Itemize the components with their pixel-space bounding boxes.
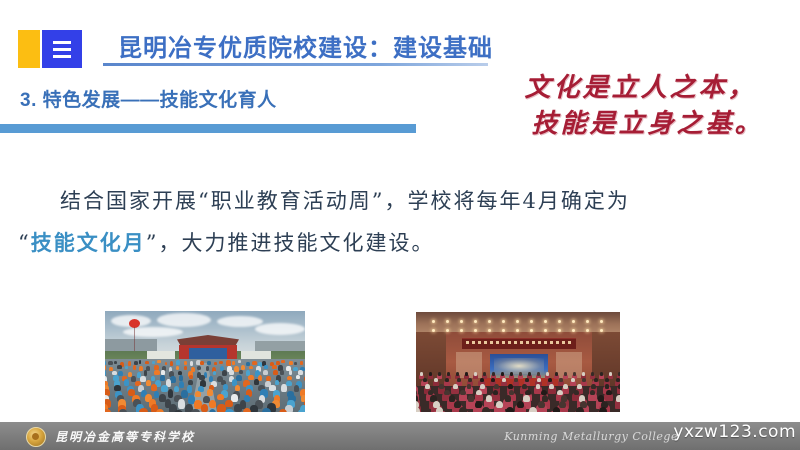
photo-crowd-person — [236, 375, 242, 381]
photo-crowd-person — [176, 366, 179, 371]
photo-cloud — [255, 323, 305, 335]
photo-ceiling-light — [432, 320, 435, 323]
photo-audience-head — [600, 372, 603, 375]
photo-audience-head — [594, 378, 598, 382]
photo-audience-head — [605, 384, 610, 389]
photo-ceiling-light — [502, 329, 505, 332]
photo-audience-head — [494, 384, 499, 389]
slide-canvas: 昆明冶专优质院校建设：建设基础 3. 特色发展——技能文化育人 文化是立人之本，… — [0, 0, 800, 450]
photo-audience-head — [505, 395, 511, 402]
photo-ceiling-light — [460, 329, 463, 332]
photo-crowd-person — [114, 361, 117, 365]
photo-crowd-person — [140, 376, 146, 382]
photo-crowd-person — [281, 384, 287, 392]
photo-crowd-person — [178, 399, 185, 409]
photo-audience-head — [537, 372, 540, 375]
photo-crowd-person — [119, 409, 127, 412]
photo-audience-head — [525, 378, 529, 382]
photo-audience-head — [573, 372, 576, 375]
photo-audience-head — [571, 378, 575, 382]
photo-audience-head — [537, 378, 541, 382]
photo-crowd-person — [286, 381, 292, 386]
photo-crowd-person — [214, 362, 217, 365]
photo-crowd-person — [225, 400, 233, 408]
photo-crowd-person — [161, 370, 165, 375]
photo-crowd-person — [117, 365, 122, 369]
photo-crowd-person — [105, 409, 111, 412]
photo-crowd-person — [195, 391, 201, 397]
hamburger-line — [53, 48, 71, 51]
photo-audience-head — [475, 401, 482, 408]
photo-crowd-person — [134, 361, 138, 365]
photo-banner-text — [466, 341, 572, 344]
photo-crowd-person — [235, 385, 241, 391]
photo-crowd-person — [294, 362, 297, 365]
photo-crowd-person — [217, 394, 224, 401]
photo-crowd-person — [197, 366, 201, 370]
photo-audience-head — [574, 390, 580, 396]
photo-audience-head — [590, 390, 596, 396]
photo-crowd-person — [280, 370, 284, 375]
body-paragraph: 结合国家开展“职业教育活动周”，学校将每年4月确定为 “技能文化月”，大力推进技… — [18, 180, 784, 264]
photo-crowd-person — [252, 361, 257, 365]
photo-crowd-person — [170, 361, 174, 366]
photo-ceiling-light — [530, 320, 533, 323]
photo-audience-head — [582, 378, 586, 382]
photo-crowd-person — [105, 370, 106, 375]
photo-crowd-person — [133, 365, 137, 370]
photo-ceiling-light — [586, 320, 589, 323]
photo-crowd-person — [209, 400, 217, 408]
header-underline — [103, 63, 488, 66]
auditorium-assembly-photo — [416, 312, 620, 412]
photo-crowd-person — [263, 370, 268, 375]
photo-audience-head — [483, 372, 486, 375]
body-quote-open: “ — [18, 231, 31, 255]
photo-crowd-person — [174, 386, 180, 393]
photo-ceiling-light — [488, 329, 491, 332]
header-accent-bar — [18, 30, 40, 68]
photo-audience-head — [591, 384, 596, 389]
photo-audience-head — [609, 372, 612, 375]
slogan-line-2: 技能是立身之基。 — [488, 106, 793, 142]
photo-audience-head — [538, 401, 545, 408]
photo-crowd-person — [289, 361, 293, 365]
photo-audience-head — [434, 378, 438, 382]
photo-crowd-person — [219, 361, 223, 365]
site-watermark: yxzw123.com — [673, 422, 796, 442]
photo-audience-head — [522, 384, 527, 389]
photo-audience-head — [591, 372, 594, 375]
photo-audience-head — [453, 384, 458, 389]
photo-audience-head — [514, 378, 518, 382]
photo-audience-head — [501, 372, 504, 375]
photo-audience-head — [425, 384, 430, 389]
photo-audience-head — [496, 401, 503, 408]
photo-crowd-person — [287, 376, 293, 381]
photo-crowd-person — [184, 361, 187, 365]
photo-audience-head — [423, 378, 427, 382]
photo-audience-head — [606, 390, 612, 396]
photo-crowd-person — [181, 390, 188, 398]
photo-audience-head — [476, 390, 482, 396]
photo-crowd-person — [262, 408, 271, 412]
photo-audience-head — [460, 390, 466, 396]
photo-audience-head — [564, 372, 567, 375]
photo-crowd-person — [234, 404, 242, 412]
photo-audience-head — [536, 384, 541, 389]
photo-audience-head — [447, 372, 450, 375]
photo-crowd-person — [281, 360, 285, 363]
photo-crowd-person — [152, 361, 155, 364]
photo-crowd-person — [179, 375, 184, 381]
photo-crowd-person — [300, 361, 303, 365]
photo-audience-head — [445, 378, 449, 382]
photo-ceiling-light — [474, 329, 477, 332]
photo-crowd-person — [250, 405, 258, 412]
photo-audience-head — [508, 384, 513, 389]
photo-audience-head — [577, 384, 582, 389]
photo-audience-head — [616, 378, 620, 382]
photo-ceiling-light — [600, 320, 603, 323]
photo-audience-head — [468, 378, 472, 382]
photo-ceiling-light — [432, 329, 435, 332]
photo-audience-head — [459, 407, 467, 412]
photo-ceiling-light — [600, 329, 603, 332]
school-emblem-icon — [26, 427, 46, 447]
photo-audience-head — [599, 407, 607, 412]
photo-crowd-person — [272, 365, 277, 369]
photo-crowd-person — [298, 409, 305, 412]
photo-audience-head — [546, 372, 549, 375]
photo-crowd-person — [304, 376, 305, 381]
photo-audience-head — [616, 395, 620, 402]
photo-wall-panel-right — [556, 352, 582, 378]
photo-crowd-person — [184, 366, 187, 370]
photo-audience-head — [457, 378, 461, 382]
photo-crowd-person — [144, 370, 148, 376]
photo-ceiling-light — [572, 320, 575, 323]
photo-crowd-person — [139, 408, 149, 412]
photo-crowd-person — [161, 385, 168, 392]
photo-crowd-person — [279, 409, 287, 412]
body-line-1: 结合国家开展“职业教育活动周”，学校将每年4月确定为 — [18, 180, 784, 222]
photo-crowd-person — [296, 375, 300, 380]
photo-audience-head — [480, 384, 485, 389]
photo-cloud — [157, 313, 211, 327]
photo-crowd-person — [264, 365, 269, 369]
photo-audience-head — [618, 384, 620, 389]
photo-crowd-person — [108, 361, 113, 365]
photo-audience-head — [493, 390, 499, 396]
photo-audience-head — [529, 407, 537, 412]
photo-audience-head — [548, 378, 552, 382]
hamburger-line — [53, 55, 71, 58]
photo-crowd-person — [154, 370, 160, 375]
photo-crowd-person — [139, 366, 143, 372]
photo-audience-head — [502, 378, 506, 382]
photo-crowd-person — [168, 389, 174, 398]
photo-ceiling-light — [558, 320, 561, 323]
photo-audience-head — [492, 372, 495, 375]
photo-ceiling-light — [544, 329, 547, 332]
photo-crowd-person — [179, 381, 185, 389]
photo-audience-head — [618, 372, 620, 375]
photo-audience-head — [467, 384, 472, 389]
photo-ceiling-light — [516, 320, 519, 323]
body-line-2: “技能文化月”，大力推进技能文化建设。 — [18, 222, 784, 264]
photo-crowd-person — [254, 379, 260, 385]
photo-audience-head — [439, 384, 444, 389]
photo-audience-head — [510, 372, 513, 375]
photo-audience-head — [465, 372, 468, 375]
photo-crowd-person — [248, 375, 254, 381]
photo-crowd-person — [225, 409, 234, 412]
photo-ceiling-light — [488, 320, 491, 323]
footer-school-name-cn: 昆明冶金高等专科学校 — [55, 428, 195, 445]
photo-crowd-person — [174, 410, 183, 412]
photo-ceiling-light — [586, 329, 589, 332]
photo-crowd-person — [246, 362, 250, 366]
photo-crowd-person — [207, 361, 211, 365]
photo-crowd-person — [226, 360, 230, 365]
photo-ceiling-light — [502, 320, 505, 323]
photo-crowd-person — [157, 360, 161, 363]
photo-cloud — [217, 316, 263, 327]
photo-audience-head — [429, 372, 432, 375]
photo-audience-head — [474, 372, 477, 375]
photo-crowd-person — [201, 404, 209, 412]
hamburger-line — [53, 41, 71, 44]
photo-crowd-person — [190, 361, 194, 366]
outdoor-ceremony-photo — [105, 311, 305, 412]
photo-audience-head — [436, 407, 444, 412]
photo-crowd-person — [176, 360, 180, 364]
photo-audience-head — [559, 401, 566, 408]
photo-audience-head — [559, 378, 563, 382]
photo-ceiling-light — [446, 320, 449, 323]
photo-audience-head — [480, 378, 484, 382]
section-subtitle: 3. 特色发展——技能文化育人 — [20, 85, 277, 112]
photo-crowd-person — [160, 375, 165, 380]
photo-audience-head — [438, 372, 441, 375]
photo-audience-head — [456, 372, 459, 375]
photo-balloon-tether — [134, 327, 135, 353]
photo-audience-head — [553, 407, 561, 412]
photo-crowd-person — [222, 370, 227, 376]
photo-audience-head — [563, 384, 568, 389]
slogan-line-1: 文化是立人之本， — [488, 70, 793, 106]
photo-crowd-person — [276, 361, 279, 365]
photo-stage-screen — [189, 348, 227, 359]
photo-ceiling-light — [460, 320, 463, 323]
photo-ceiling-light — [516, 329, 519, 332]
photo-crowd-person — [229, 370, 234, 375]
photo-audience-head — [528, 372, 531, 375]
photo-crowd-person — [200, 361, 204, 365]
photo-audience-head — [523, 395, 529, 402]
photo-audience-head — [482, 407, 490, 412]
page-title: 昆明冶专优质院校建设：建设基础 — [118, 28, 493, 63]
photo-crowd-person — [191, 409, 200, 412]
body-highlight-term: 技能文化月 — [31, 230, 146, 255]
photo-crowd-person — [206, 366, 210, 371]
photo-crowd-person — [232, 361, 235, 365]
photo-ceiling-light — [558, 329, 561, 332]
photo-crowd-person — [298, 370, 303, 375]
photo-crowd-person — [209, 409, 217, 412]
photo-wall-panel-left — [456, 352, 482, 378]
hamburger-icon[interactable] — [42, 30, 82, 68]
photo-audience-head — [549, 384, 554, 389]
photo-audience-head — [576, 407, 584, 412]
photo-cloud — [123, 327, 183, 337]
photo-audience-head — [444, 390, 450, 396]
photo-audience-head — [486, 395, 492, 402]
photo-audience-head — [582, 372, 585, 375]
photo-audience-head — [517, 401, 524, 408]
slide-header: 昆明冶专优质院校建设：建设基础 — [0, 0, 800, 78]
photo-audience-head — [605, 378, 609, 382]
footer-school-name-en: Kunming Metallurgy College — [504, 430, 678, 443]
photo-audience-head — [491, 378, 495, 382]
photo-ceiling-light — [474, 320, 477, 323]
photo-ceiling-light — [446, 329, 449, 332]
photo-ceiling-light — [572, 329, 575, 332]
photo-audience-head — [519, 372, 522, 375]
subtitle-divider-bar — [0, 124, 416, 133]
photo-crowd-person — [189, 375, 193, 380]
photo-crowd-person — [156, 409, 164, 413]
calligraphy-slogan: 文化是立人之本， 技能是立身之基。 — [488, 70, 793, 142]
photo-ceiling-light — [544, 320, 547, 323]
photo-crowd-person — [294, 385, 300, 392]
photo-crowd-person — [151, 376, 156, 381]
photo-audience-head — [506, 407, 514, 412]
photo-audience-head — [420, 372, 423, 375]
photo-crowd-person — [275, 380, 280, 385]
photo-audience-head — [555, 372, 558, 375]
body-line-2-tail: ”，大力推进技能文化建设。 — [146, 231, 435, 255]
photo-audience-head — [468, 395, 474, 402]
photo-ceiling-light — [530, 329, 533, 332]
